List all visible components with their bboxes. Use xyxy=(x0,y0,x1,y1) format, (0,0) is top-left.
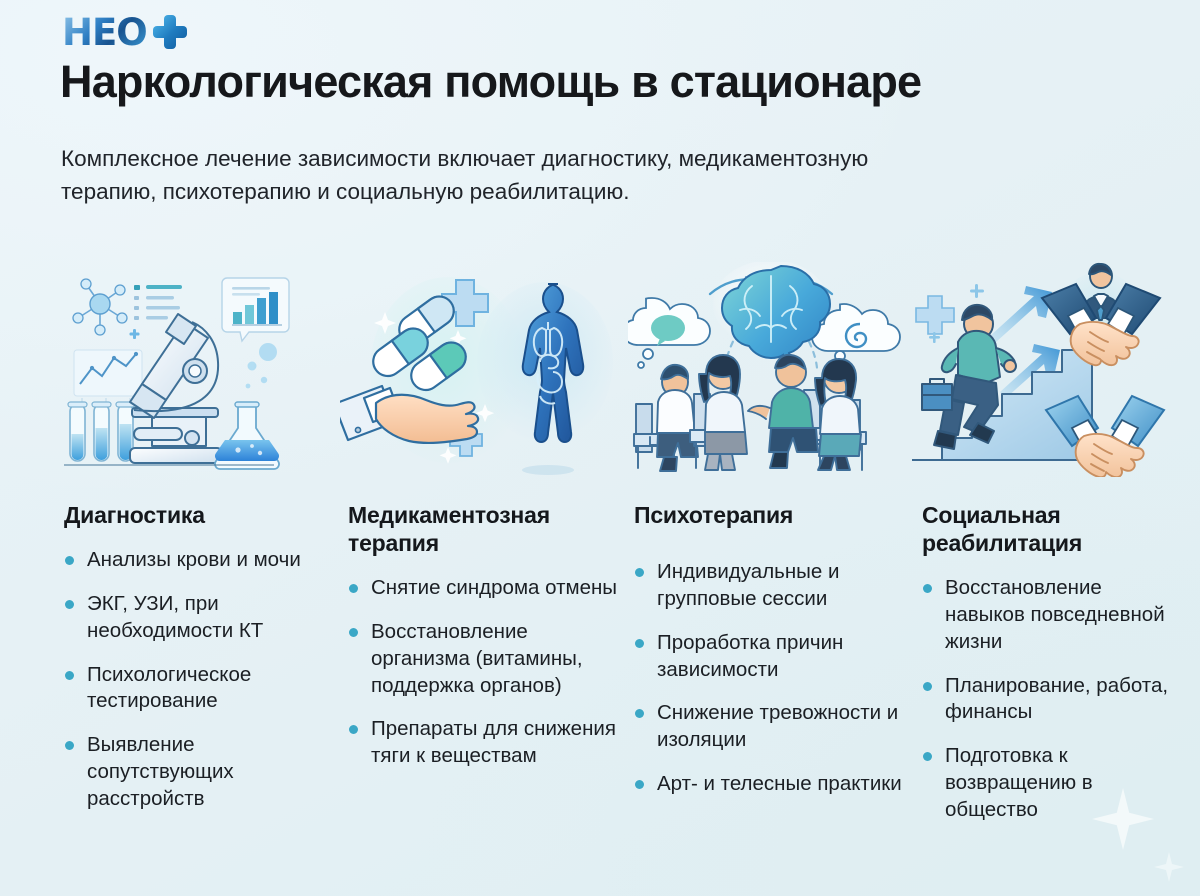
column-psychotherapy: Психотерапия Индивидуальные и групповые … xyxy=(628,262,914,892)
list-item: Арт- и телесные практики xyxy=(634,771,914,798)
list-item: Снятие синдрома отмены xyxy=(348,575,632,602)
brand-logo: НЕО xyxy=(62,12,187,52)
microscope-lab-icon xyxy=(56,262,346,477)
column-title: Медикаментозная терапия xyxy=(340,501,632,557)
list-item: ЭКГ, УЗИ, при необходимости КТ xyxy=(64,591,346,645)
list-item: Анализы крови и мочи xyxy=(64,547,346,574)
group-therapy-brain-icon xyxy=(628,262,914,477)
column-diagnostics: Диагностика Анализы крови и мочи ЭКГ, УЗ… xyxy=(56,262,346,892)
list-item: Психологическое тестирование xyxy=(64,662,346,716)
list-item: Снижение тревожности и изоляции xyxy=(634,700,914,754)
hand-pills-body-icon xyxy=(340,262,632,477)
page-subtitle: Комплексное лечение зависимости включает… xyxy=(61,142,941,209)
column-social-rehabilitation: Социальная реабилитация Восстановление н… xyxy=(912,262,1184,892)
page-title: Наркологическая помощь в стационаре xyxy=(60,58,1160,107)
column-bullet-list: Индивидуальные и групповые сессии Прораб… xyxy=(628,559,914,798)
column-title: Психотерапия xyxy=(628,501,914,529)
list-item: Выявление сопутствующих расстройств xyxy=(64,732,346,813)
content-columns: Диагностика Анализы крови и мочи ЭКГ, УЗ… xyxy=(0,262,1200,892)
stairs-handshake-icon xyxy=(912,262,1184,477)
list-item: Планирование, работа, финансы xyxy=(922,673,1184,727)
column-title: Социальная реабилитация xyxy=(912,501,1184,557)
list-item: Проработка причин зависимости xyxy=(634,630,914,684)
column-bullet-list: Снятие синдрома отмены Восстановление ор… xyxy=(340,575,632,770)
column-bullet-list: Анализы крови и мочи ЭКГ, УЗИ, при необх… xyxy=(56,547,346,813)
list-item: Индивидуальные и групповые сессии xyxy=(634,559,914,613)
list-item: Препараты для снижения тяги к веществам xyxy=(348,716,632,770)
list-item: Восстановление организма (витамины, подд… xyxy=(348,619,632,700)
column-bullet-list: Восстановление навыков повседневной жизн… xyxy=(912,575,1184,824)
column-title: Диагностика xyxy=(56,501,346,529)
list-item: Подготовка к возвращению в общество xyxy=(922,743,1184,824)
brand-logo-text: НЕО xyxy=(62,14,147,51)
plus-icon xyxy=(153,15,187,49)
list-item: Восстановление навыков повседневной жизн… xyxy=(922,575,1184,656)
column-medication-therapy: Медикаментозная терапия Снятие синдрома … xyxy=(340,262,632,892)
